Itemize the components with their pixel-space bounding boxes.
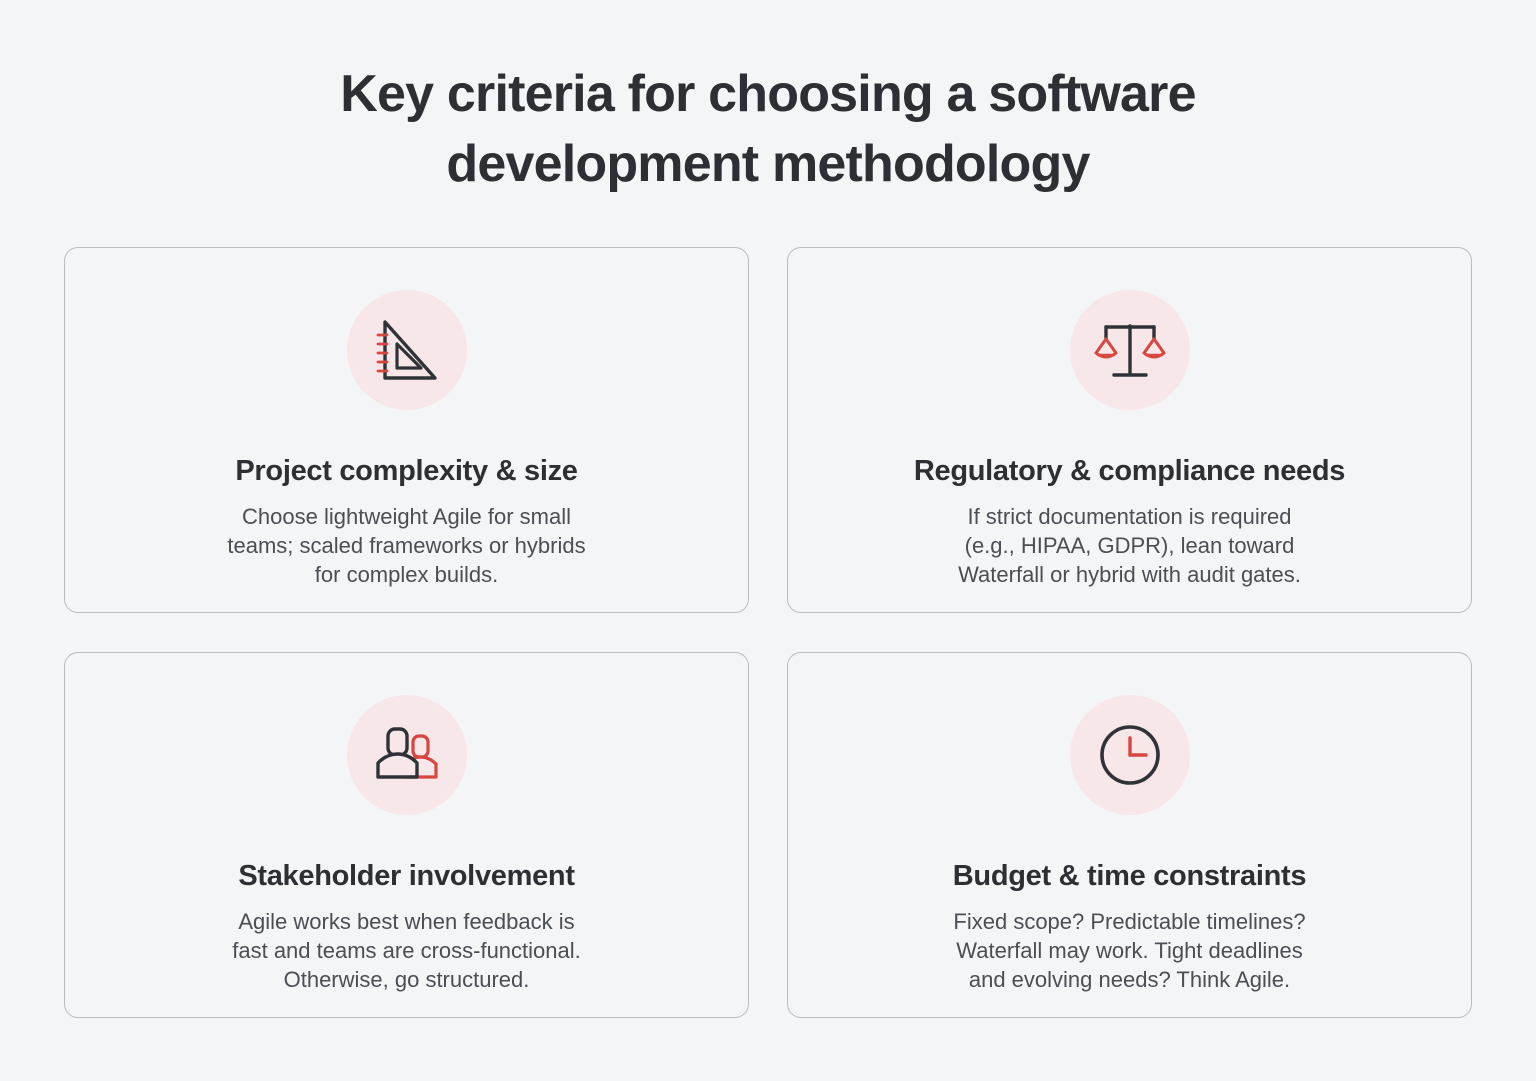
clock-icon bbox=[1094, 719, 1166, 791]
two-people-icon bbox=[371, 719, 443, 791]
triangle-ruler-icon bbox=[371, 314, 443, 386]
page-title: Key criteria for choosing a software dev… bbox=[268, 60, 1268, 199]
icon-badge bbox=[347, 695, 467, 815]
criteria-card-budget-time[interactable]: Budget & time constraints Fixed scope? P… bbox=[787, 652, 1472, 1018]
card-title: Stakeholder involvement bbox=[238, 859, 574, 894]
card-description: If strict documentation is required (e.g… bbox=[958, 502, 1301, 590]
icon-badge bbox=[347, 290, 467, 410]
infographic-page: Key criteria for choosing a software dev… bbox=[0, 0, 1536, 1081]
card-description: Agile works best when feedback is fast a… bbox=[232, 907, 581, 995]
card-description: Choose lightweight Agile for small teams… bbox=[227, 502, 585, 590]
card-title: Regulatory & compliance needs bbox=[914, 454, 1345, 489]
card-title: Budget & time constraints bbox=[953, 859, 1306, 894]
card-title: Project complexity & size bbox=[235, 454, 577, 489]
icon-badge bbox=[1070, 695, 1190, 815]
icon-badge bbox=[1070, 290, 1190, 410]
criteria-card-project-complexity[interactable]: Project complexity & size Choose lightwe… bbox=[64, 247, 749, 613]
criteria-card-stakeholder-involvement[interactable]: Stakeholder involvement Agile works best… bbox=[64, 652, 749, 1018]
criteria-card-grid: Project complexity & size Choose lightwe… bbox=[64, 247, 1472, 1018]
criteria-card-regulatory-compliance[interactable]: Regulatory & compliance needs If strict … bbox=[787, 247, 1472, 613]
balance-scales-icon bbox=[1094, 314, 1166, 386]
card-description: Fixed scope? Predictable timelines? Wate… bbox=[953, 907, 1305, 995]
